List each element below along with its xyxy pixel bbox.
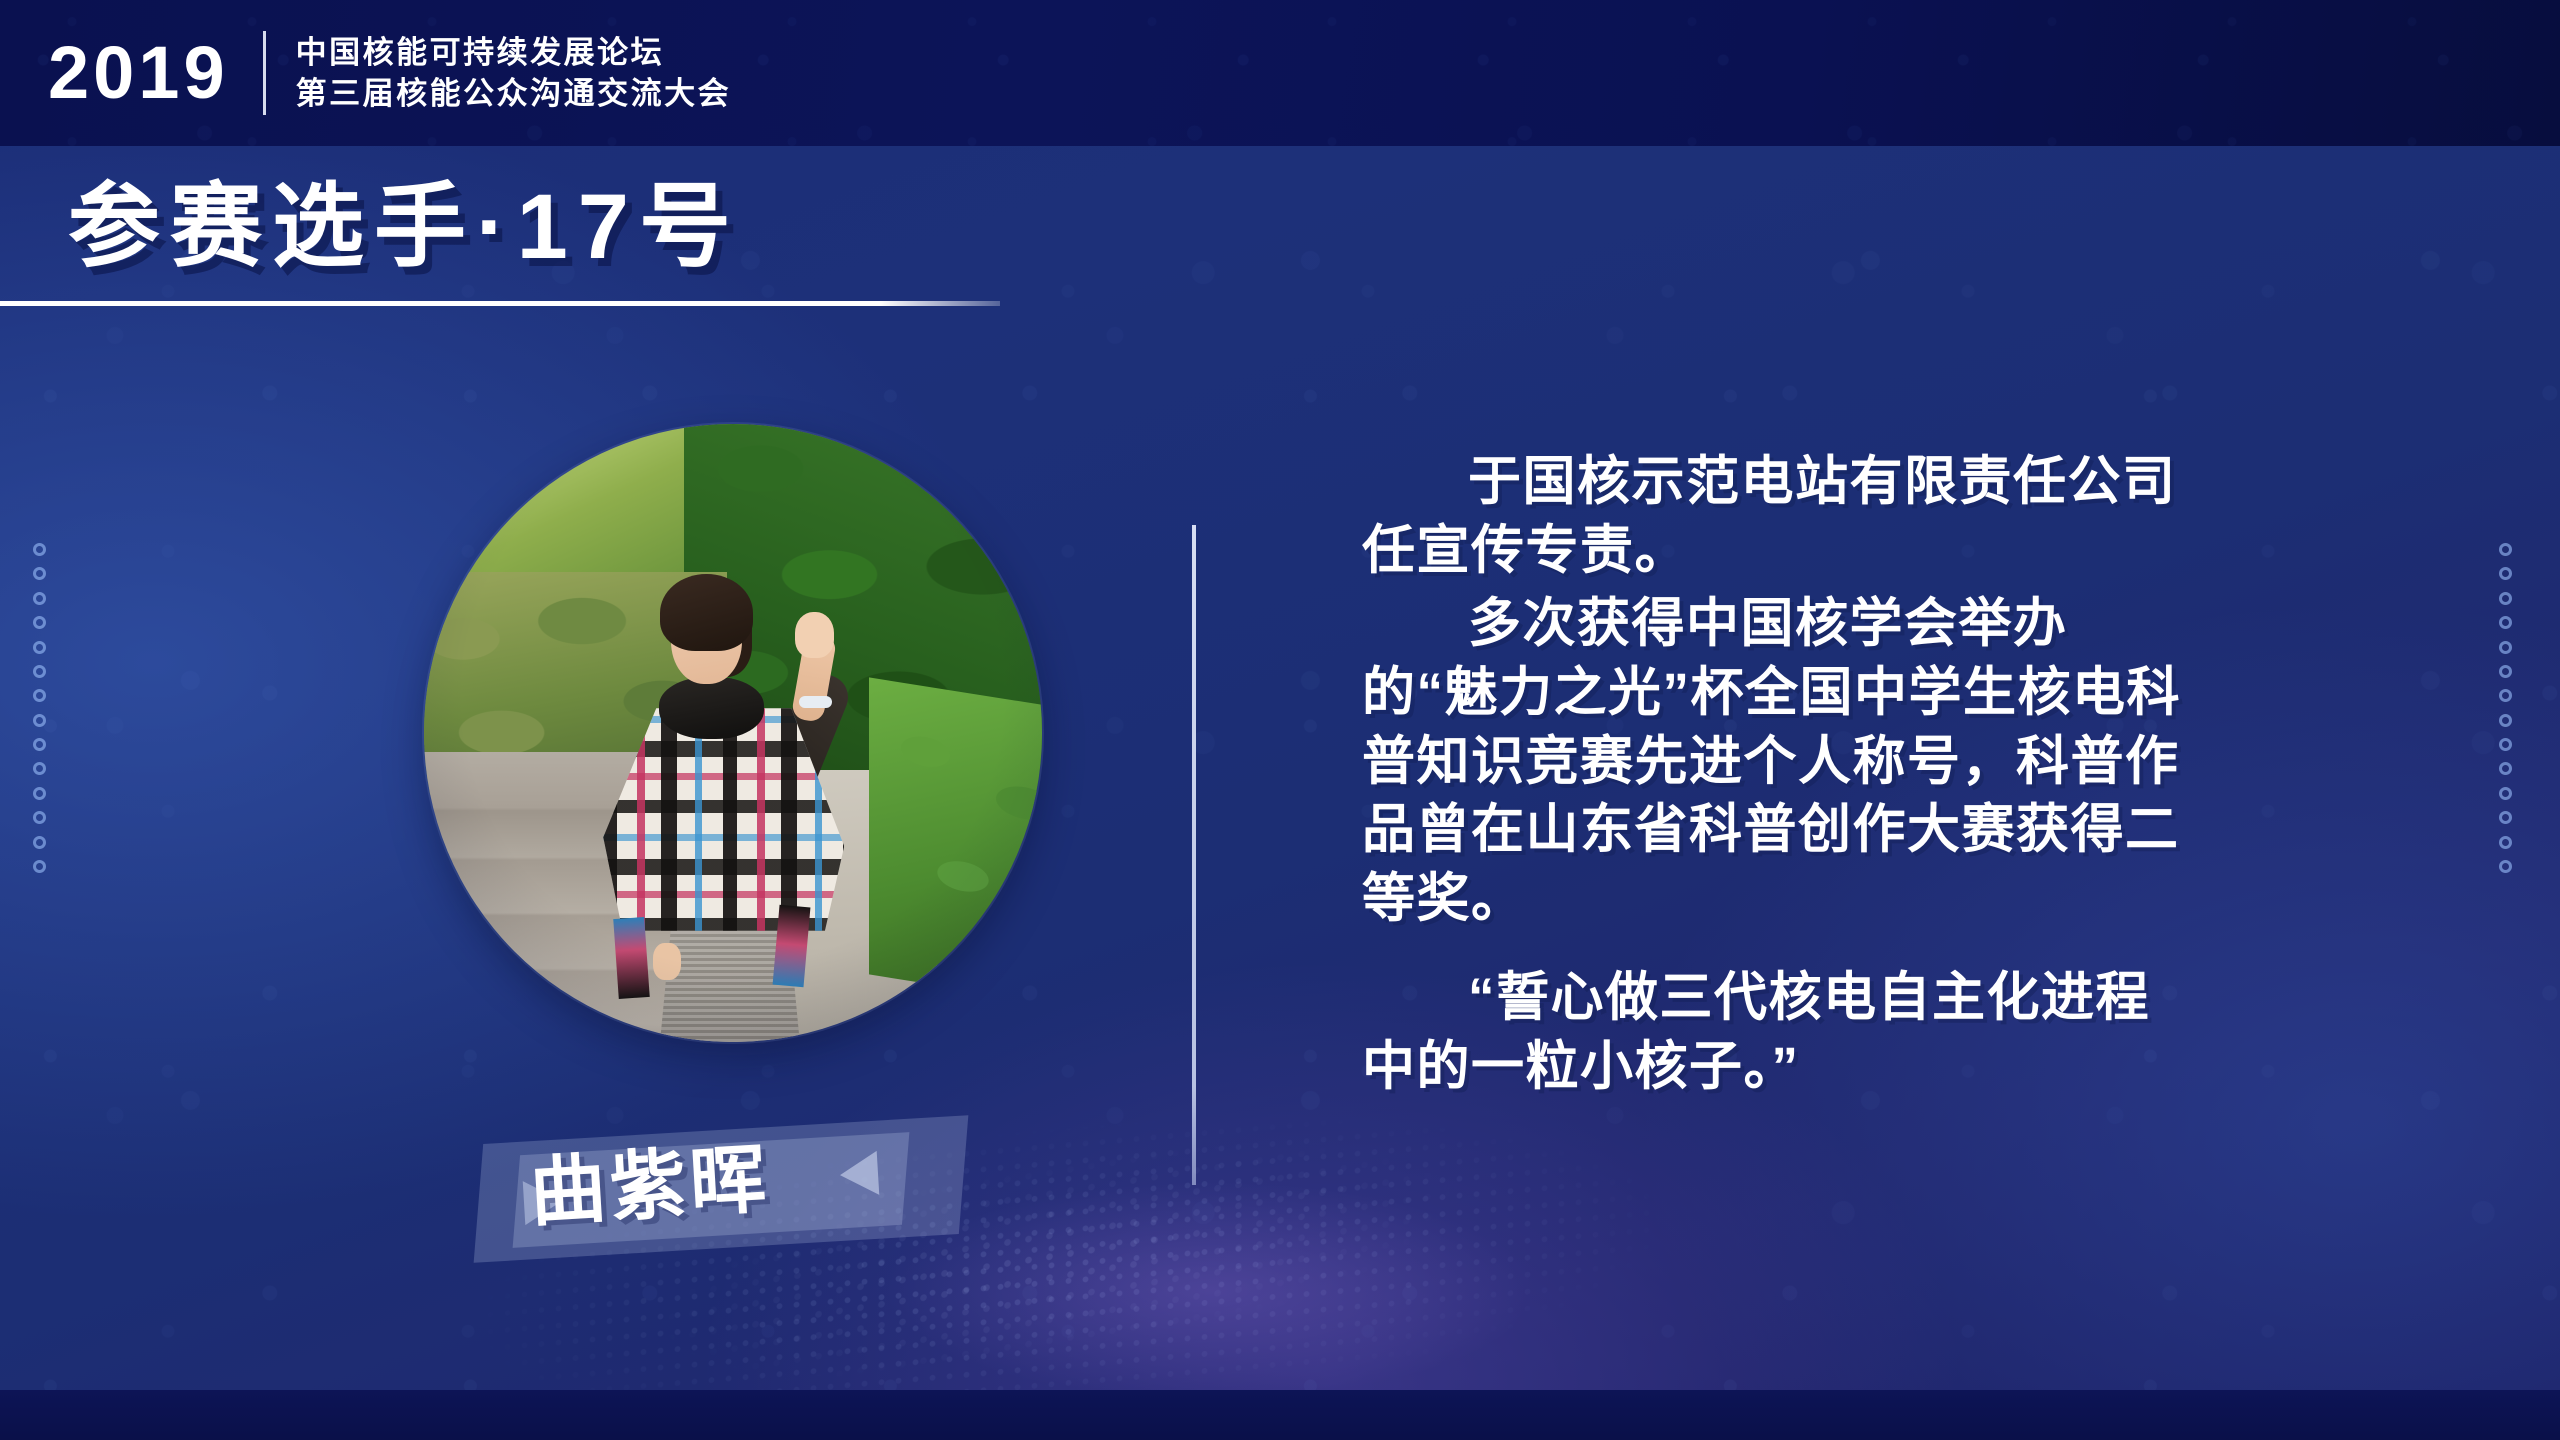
event-name-line-2: 第三届核能公众沟通交流大会 bbox=[296, 77, 732, 110]
event-name-lines: 中国核能可持续发展论坛 第三届核能公众沟通交流大会 bbox=[296, 36, 732, 110]
dot-icon bbox=[33, 665, 46, 678]
dot-icon bbox=[2499, 836, 2512, 849]
dot-icon bbox=[2499, 689, 2512, 702]
dot-icon bbox=[33, 714, 46, 727]
dot-icon bbox=[33, 860, 46, 873]
bio-vertical-divider bbox=[1192, 525, 1196, 1185]
dot-icon bbox=[2499, 616, 2512, 629]
dot-icon bbox=[2499, 641, 2512, 654]
dot-icon bbox=[33, 787, 46, 800]
dot-icon bbox=[2499, 738, 2512, 751]
bottom-bar bbox=[0, 1390, 2560, 1440]
left-dot-column bbox=[26, 543, 52, 873]
contestant-photo bbox=[424, 424, 1042, 1042]
right-dot-column bbox=[2492, 543, 2518, 873]
dot-icon bbox=[33, 738, 46, 751]
dot-icon bbox=[2499, 714, 2512, 727]
dot-icon bbox=[33, 543, 46, 556]
dot-icon bbox=[33, 616, 46, 629]
dot-icon bbox=[2499, 592, 2512, 605]
dot-icon bbox=[2499, 860, 2512, 873]
contestant-name-banner: 曲紫晖 bbox=[468, 1122, 968, 1262]
dot-icon bbox=[2499, 811, 2512, 824]
slide-canvas: 2019 中国核能可持续发展论坛 第三届核能公众沟通交流大会 参赛选手·17号 bbox=[0, 0, 2560, 1440]
bio-paragraph-3: “誓心做三代核电自主化进程中的一粒小核子。” bbox=[1362, 964, 2182, 1102]
dot-icon bbox=[33, 567, 46, 580]
contestant-bio: 于国核示范电站有限责任公司任宣传专责。 多次获得中国核学会举办的“魅力之光”杯全… bbox=[1362, 448, 2182, 1106]
dot-icon bbox=[2499, 762, 2512, 775]
header-divider bbox=[263, 31, 266, 115]
event-year: 2019 bbox=[48, 36, 229, 110]
dot-icon bbox=[2499, 787, 2512, 800]
bio-paragraph-2: 多次获得中国核学会举办的“魅力之光”杯全国中学生核电科普知识竞赛先进个人称号，科… bbox=[1362, 590, 2182, 934]
photo-vignette bbox=[424, 424, 1042, 1042]
dot-icon bbox=[33, 762, 46, 775]
page-title-block: 参赛选手·17号 bbox=[0, 176, 1010, 306]
event-name-line-1: 中国核能可持续发展论坛 bbox=[296, 36, 732, 69]
page-title: 参赛选手·17号 bbox=[0, 176, 1010, 279]
bio-paragraph-1: 于国核示范电站有限责任公司任宣传专责。 bbox=[1362, 448, 2182, 586]
dot-icon bbox=[2499, 665, 2512, 678]
header-content: 2019 中国核能可持续发展论坛 第三届核能公众沟通交流大会 bbox=[0, 31, 731, 115]
dot-icon bbox=[33, 811, 46, 824]
dot-icon bbox=[33, 836, 46, 849]
event-header-bar: 2019 中国核能可持续发展论坛 第三届核能公众沟通交流大会 bbox=[0, 0, 2560, 146]
dot-icon bbox=[33, 689, 46, 702]
dot-icon bbox=[33, 592, 46, 605]
dot-icon bbox=[2499, 567, 2512, 580]
title-underline bbox=[0, 301, 1000, 306]
dot-icon bbox=[33, 641, 46, 654]
dot-icon bbox=[2499, 543, 2512, 556]
